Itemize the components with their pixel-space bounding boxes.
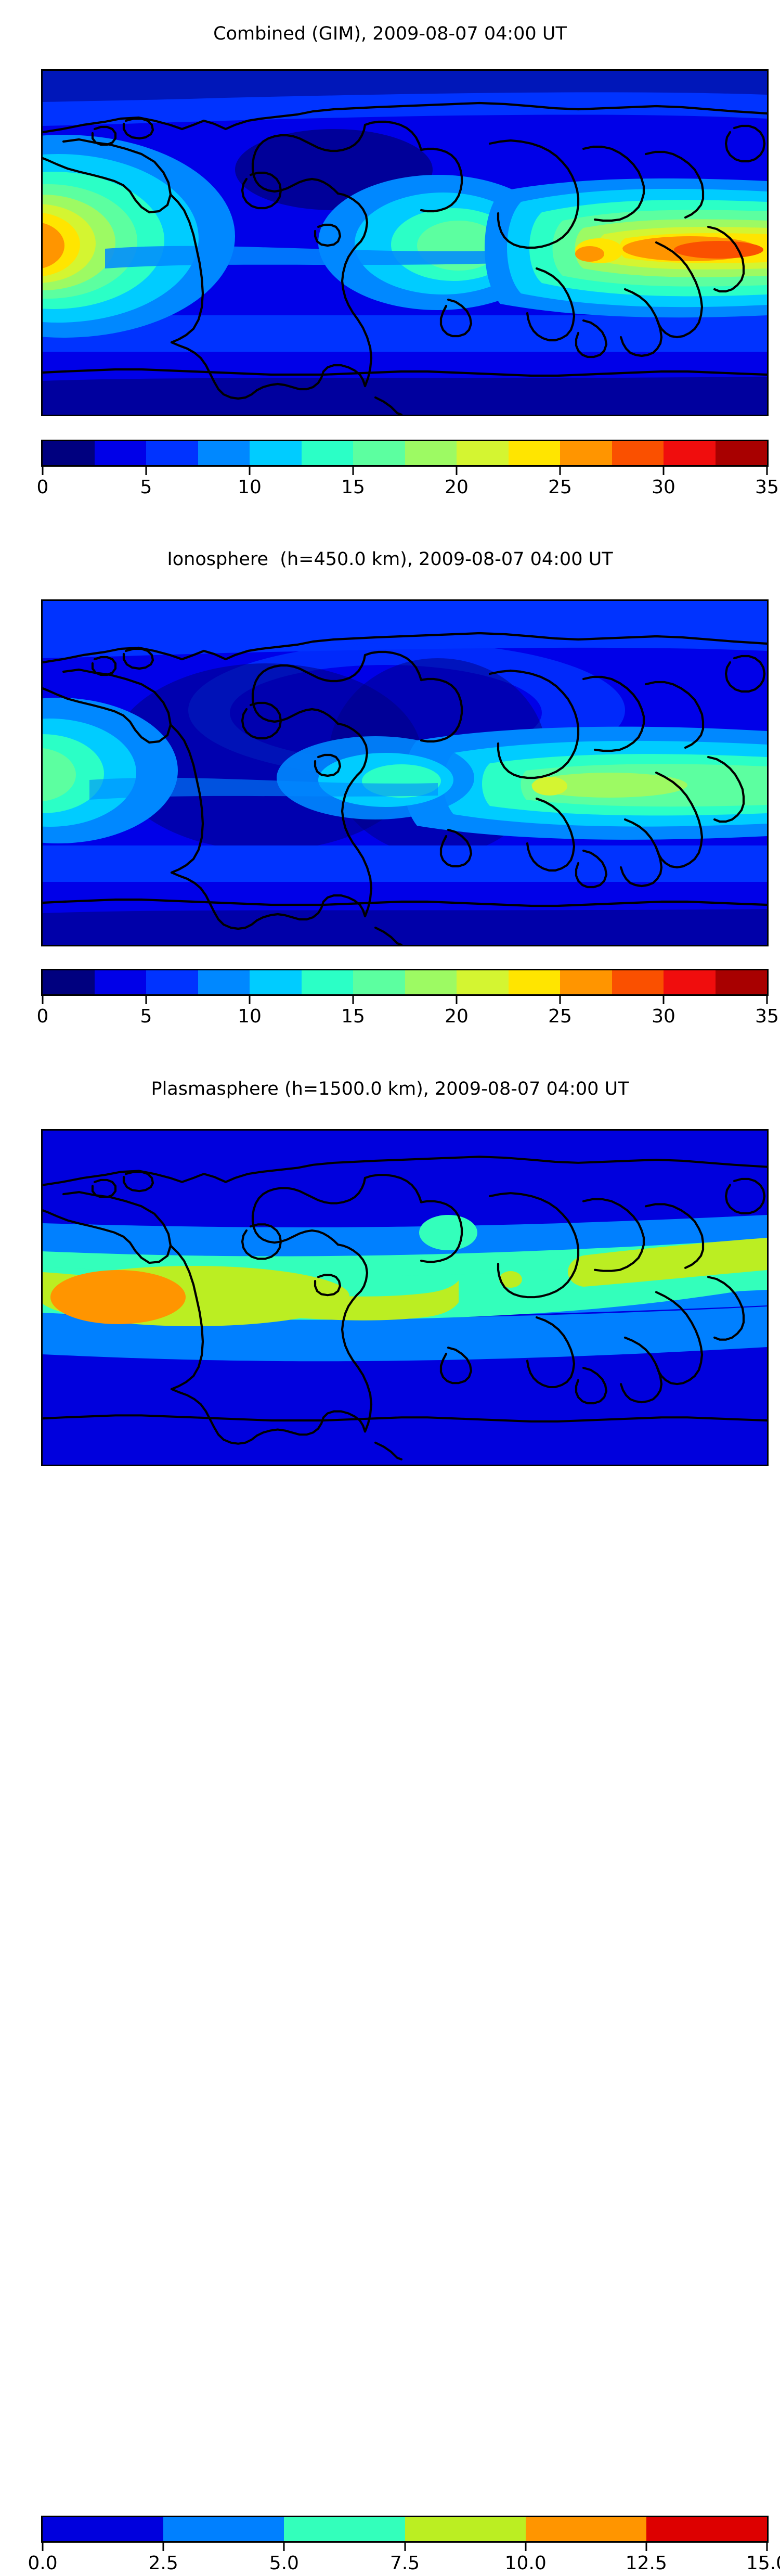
colorbar-band-3 — [198, 970, 250, 994]
map-contour-ionosphere-450: .cl{fill:none;stroke:#000;stroke-width:4… — [43, 601, 767, 945]
colorbar-tick-1 — [146, 996, 147, 1004]
colorbar-tick-label-0: 0 — [37, 476, 49, 499]
colorbar-band-6 — [353, 970, 405, 994]
colorbar-band-13 — [716, 441, 768, 465]
colorbar-tick-label-7: 35 — [755, 1005, 779, 1028]
colorbar-band-2 — [146, 970, 198, 994]
colorbar-tick-label-6: 15.0 — [746, 2552, 780, 2575]
colorbar-band-5 — [302, 441, 354, 465]
colorbar-tick-label-1: 5 — [140, 476, 152, 499]
colorbar-tick-label-1: 2.5 — [149, 2552, 178, 2575]
colorbar-tick-label-2: 10 — [238, 1005, 262, 1028]
colorbar-band-3 — [405, 2517, 526, 2541]
colorbar-band-5 — [302, 970, 354, 994]
colorbar-tick-0 — [42, 2543, 44, 2551]
colorbar-tick-3 — [353, 996, 354, 1004]
colorbar-band-12 — [664, 441, 716, 465]
colorbar-tick-5 — [645, 2543, 647, 2551]
colorbar-tick-2 — [283, 2543, 285, 2551]
colorbar-band-3 — [198, 441, 250, 465]
colorbar-tick-3 — [353, 467, 354, 475]
colorbar-labels-plasmasphere-1500: 0.02.55.07.510.012.515.0 — [41, 2551, 769, 2576]
colorbar-band-11 — [612, 441, 664, 465]
colorbar-band-8 — [457, 441, 509, 465]
colorbar-tick-label-6: 30 — [652, 1005, 675, 1028]
panel-title-plasmasphere-1500: Plasmasphere (h=1500.0 km), 2009-08-07 0… — [0, 1078, 780, 1100]
colorbar-band-11 — [612, 970, 664, 994]
colorbar-tick-5 — [560, 996, 561, 1004]
colorbar-band-10 — [560, 441, 612, 465]
colorbar-tick-label-4: 10.0 — [505, 2552, 547, 2575]
map-contour-combined-gim: .cl{fill:none;stroke:#000;stroke-width:4… — [43, 71, 767, 415]
colorbar-tick-label-3: 15 — [341, 476, 365, 499]
colorbar-tick-0 — [42, 467, 44, 475]
figure-canvas: Combined (GIM), 2009-08-07 04:00 UT — [0, 0, 780, 1561]
colorbar-tick-label-5: 12.5 — [626, 2552, 667, 2575]
colorbar-tick-label-5: 25 — [548, 1005, 572, 1028]
colorbar-tick-3 — [404, 2543, 406, 2551]
colorbar-strip-plasmasphere-1500[interactable] — [41, 2516, 769, 2543]
colorbar-tick-label-4: 20 — [445, 476, 469, 499]
colorbar-band-7 — [405, 970, 457, 994]
colorbar-band-1 — [95, 441, 147, 465]
colorbar-band-9 — [509, 441, 561, 465]
colorbar-tick-label-3: 7.5 — [390, 2552, 420, 2575]
colorbar-band-0 — [43, 441, 95, 465]
colorbar-tick-label-0: 0.0 — [28, 2552, 57, 2575]
colorbar-combined-gim: 05101520253035 — [41, 440, 769, 500]
colorbar-band-2 — [146, 441, 198, 465]
colorbar-tick-4 — [525, 2543, 526, 2551]
colorbar-tick-7 — [766, 467, 768, 475]
colorbar-band-4 — [250, 441, 302, 465]
colorbar-band-0 — [43, 2517, 163, 2541]
colorbar-band-5 — [646, 2517, 767, 2541]
colorbar-tick-4 — [456, 996, 458, 1004]
panel-plasmasphere-1500: Plasmasphere (h=1500.0 km), 2009-08-07 0… — [0, 1051, 780, 1561]
panel-title-ionosphere-450: Ionosphere (h=450.0 km), 2009-08-07 04:0… — [0, 548, 780, 570]
colorbar-tick-label-6: 30 — [652, 476, 675, 499]
colorbar-band-0 — [43, 970, 95, 994]
colorbar-tick-0 — [42, 996, 44, 1004]
colorbar-ionosphere-450: 05101520253035 — [41, 969, 769, 1029]
colorbar-tick-label-1: 5 — [140, 1005, 152, 1028]
colorbar-labels-combined-gim: 05101520253035 — [41, 475, 769, 500]
colorbar-band-4 — [526, 2517, 646, 2541]
colorbar-band-1 — [95, 970, 147, 994]
colorbar-tick-1 — [146, 467, 147, 475]
panel-title-combined-gim: Combined (GIM), 2009-08-07 04:00 UT — [0, 23, 780, 45]
colorbar-tick-2 — [249, 996, 251, 1004]
map-axes-ionosphere-450: .cl{fill:none;stroke:#000;stroke-width:4… — [41, 599, 769, 946]
colorbar-band-12 — [664, 970, 716, 994]
colorbar-tick-6 — [766, 2543, 768, 2551]
colorbar-band-10 — [560, 970, 612, 994]
colorbar-tick-label-4: 20 — [445, 1005, 469, 1028]
colorbar-tick-6 — [663, 996, 665, 1004]
colorbar-tick-label-0: 0 — [37, 1005, 49, 1028]
colorbar-band-2 — [284, 2517, 405, 2541]
colorbar-tick-1 — [163, 2543, 164, 2551]
panel-ionosphere-450: Ionosphere (h=450.0 km), 2009-08-07 04:0… — [0, 520, 780, 1051]
colorbar-tick-label-2: 5.0 — [269, 2552, 299, 2575]
colorbar-tick-2 — [249, 467, 251, 475]
colorbar-ticks-ionosphere-450 — [41, 996, 769, 1004]
colorbar-strip-ionosphere-450[interactable] — [41, 969, 769, 996]
colorbar-tick-label-5: 25 — [548, 476, 572, 499]
colorbar-band-1 — [163, 2517, 284, 2541]
map-contour-plasmasphere-1500: .cl{fill:none;stroke:#000;stroke-width:4… — [43, 1131, 767, 1465]
colorbar-tick-4 — [456, 467, 458, 475]
colorbar-labels-ionosphere-450: 05101520253035 — [41, 1004, 769, 1029]
colorbar-tick-label-2: 10 — [238, 476, 262, 499]
colorbar-band-4 — [250, 970, 302, 994]
colorbar-band-9 — [509, 970, 561, 994]
colorbar-band-7 — [405, 441, 457, 465]
colorbar-ticks-combined-gim — [41, 467, 769, 475]
map-axes-plasmasphere-1500: .cl{fill:none;stroke:#000;stroke-width:4… — [41, 1129, 769, 1466]
colorbar-band-8 — [457, 970, 509, 994]
colorbar-tick-label-7: 35 — [755, 476, 779, 499]
colorbar-plasmasphere-1500: 0.02.55.07.510.012.515.0 — [41, 2516, 769, 2576]
colorbar-tick-6 — [663, 467, 665, 475]
colorbar-tick-label-3: 15 — [341, 1005, 365, 1028]
map-axes-combined-gim: .cl{fill:none;stroke:#000;stroke-width:4… — [41, 69, 769, 416]
colorbar-band-6 — [353, 441, 405, 465]
colorbar-ticks-plasmasphere-1500 — [41, 2543, 769, 2551]
colorbar-tick-5 — [560, 467, 561, 475]
colorbar-strip-combined-gim[interactable] — [41, 440, 769, 467]
panel-combined-gim: Combined (GIM), 2009-08-07 04:00 UT — [0, 0, 780, 520]
colorbar-tick-7 — [766, 996, 768, 1004]
colorbar-band-13 — [716, 970, 768, 994]
